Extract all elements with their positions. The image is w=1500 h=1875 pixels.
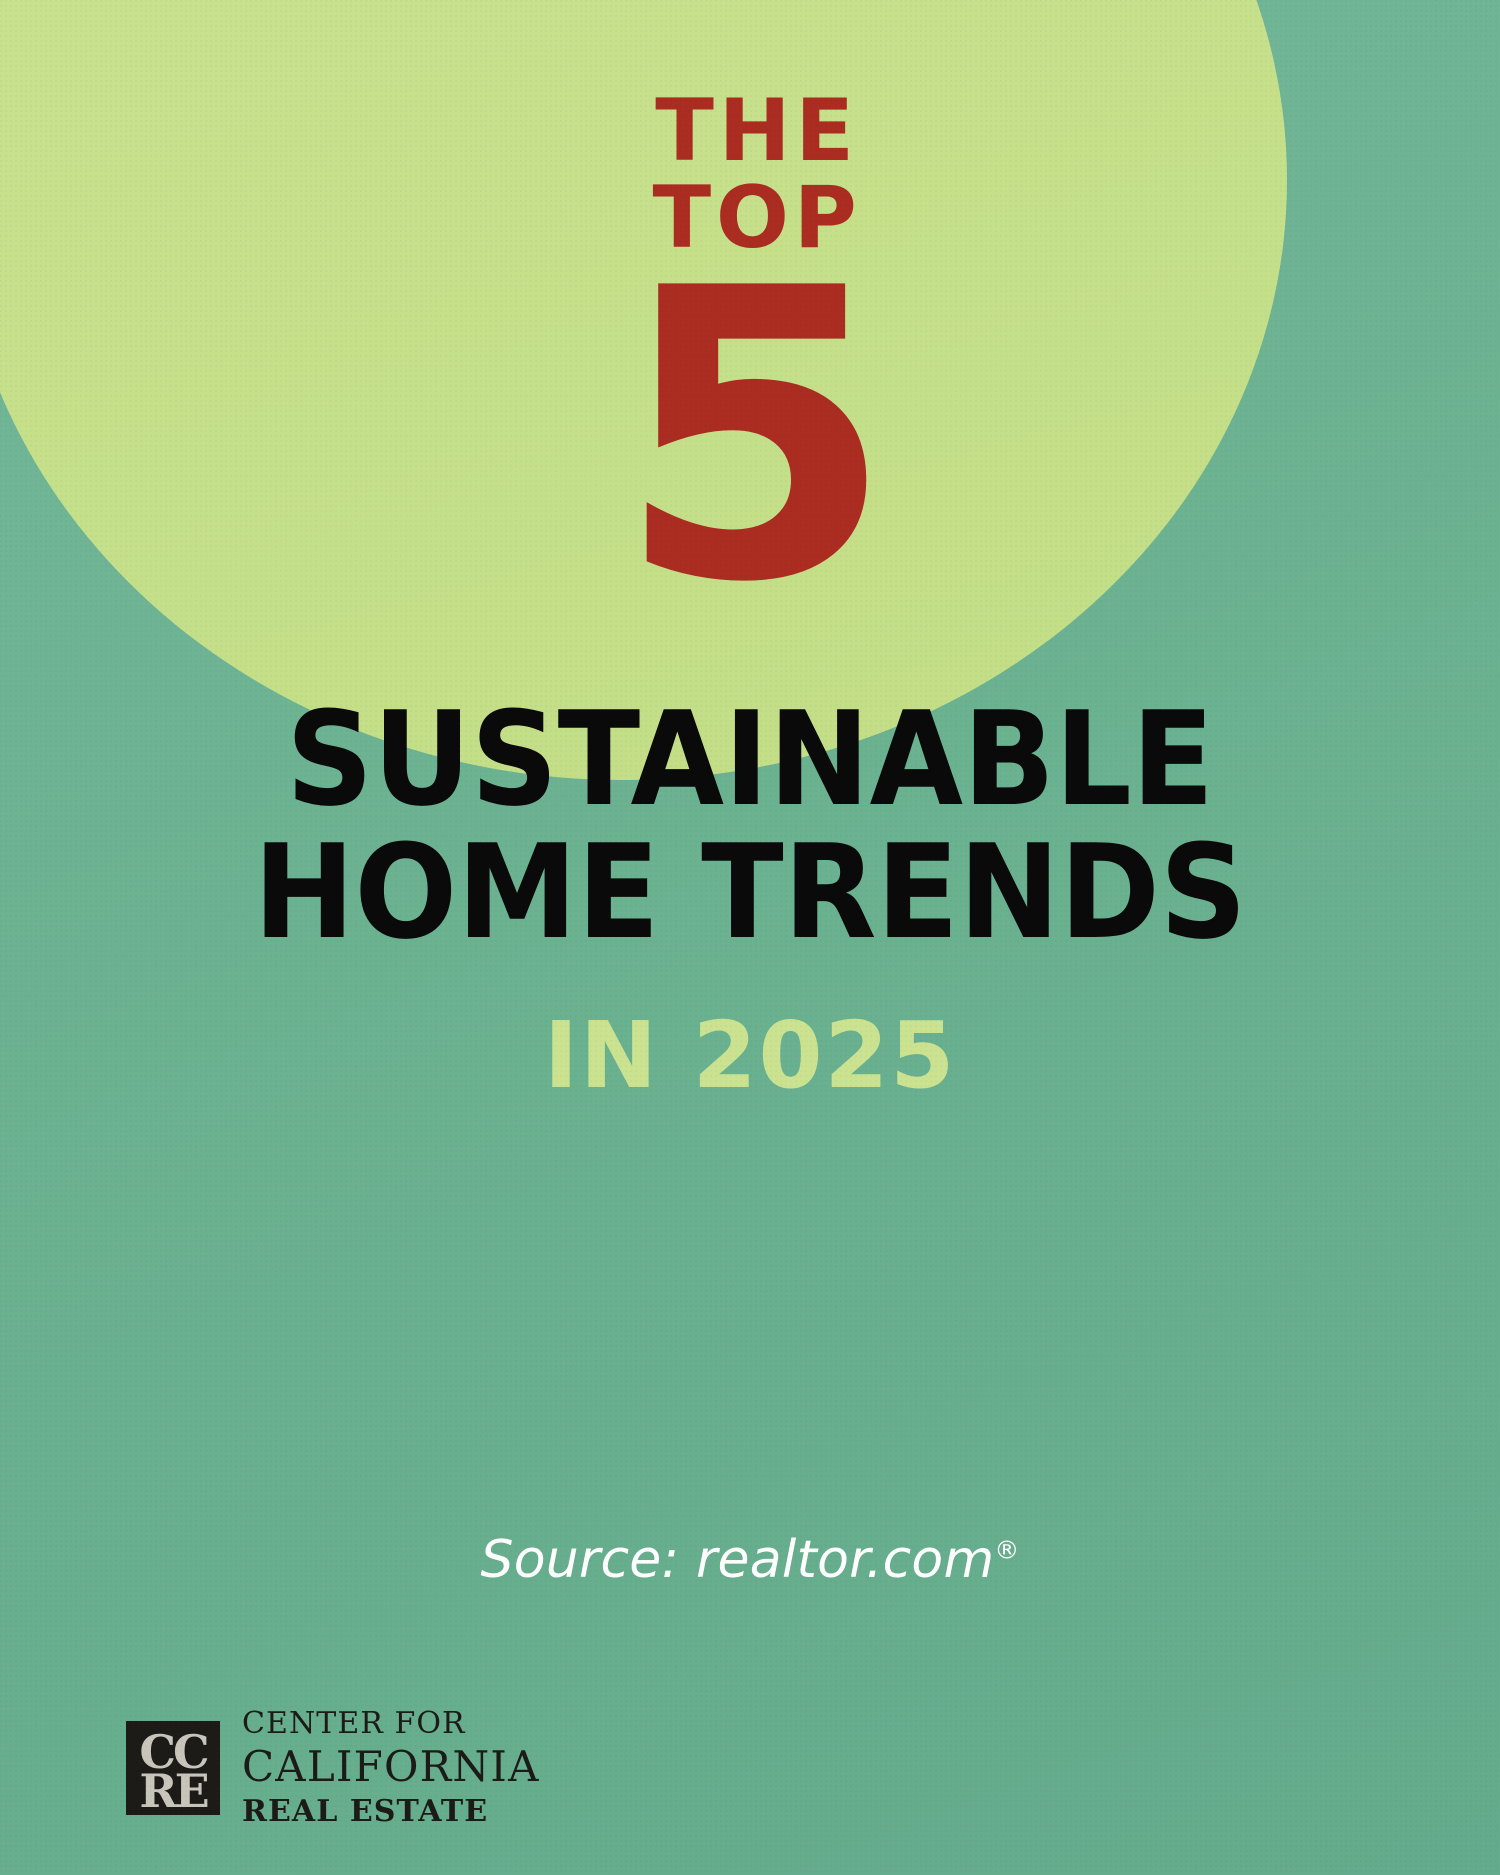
headline-line-2: HOME TRENDS [53, 823, 1448, 962]
logo-word-line-1: CENTER FOR [242, 1709, 540, 1739]
headline-line-1: SUSTAINABLE [53, 690, 1448, 829]
registered-trademark-icon: ® [994, 1536, 1019, 1565]
ccre-monogram-icon: CC RE [126, 1721, 220, 1815]
source-label: Source: realtor.com [481, 1530, 995, 1590]
svg-text:RE: RE [139, 1764, 207, 1815]
big-number-five: 5 [10, 238, 1500, 638]
ccre-logo: CC RE CENTER FOR CALIFORNIA REAL ESTATE [126, 1709, 540, 1827]
headline-subline-year: IN 2025 [0, 1010, 1500, 1102]
poster-canvas: THE TOP 5 SUSTAINABLE HOME TRENDS IN 202… [0, 0, 1500, 1875]
source-attribution: Source: realtor.com® [0, 1530, 1500, 1590]
ccre-logo-wordmark: CENTER FOR CALIFORNIA REAL ESTATE [242, 1709, 540, 1827]
ccre-logo-mark: CC RE [126, 1721, 220, 1815]
headline-block: SUSTAINABLE HOME TRENDS IN 2025 [0, 690, 1500, 1102]
logo-word-line-2: CALIFORNIA [242, 1746, 540, 1788]
logo-word-line-3: REAL ESTATE [242, 1797, 540, 1827]
eyebrow-line-the: THE [14, 92, 1500, 171]
